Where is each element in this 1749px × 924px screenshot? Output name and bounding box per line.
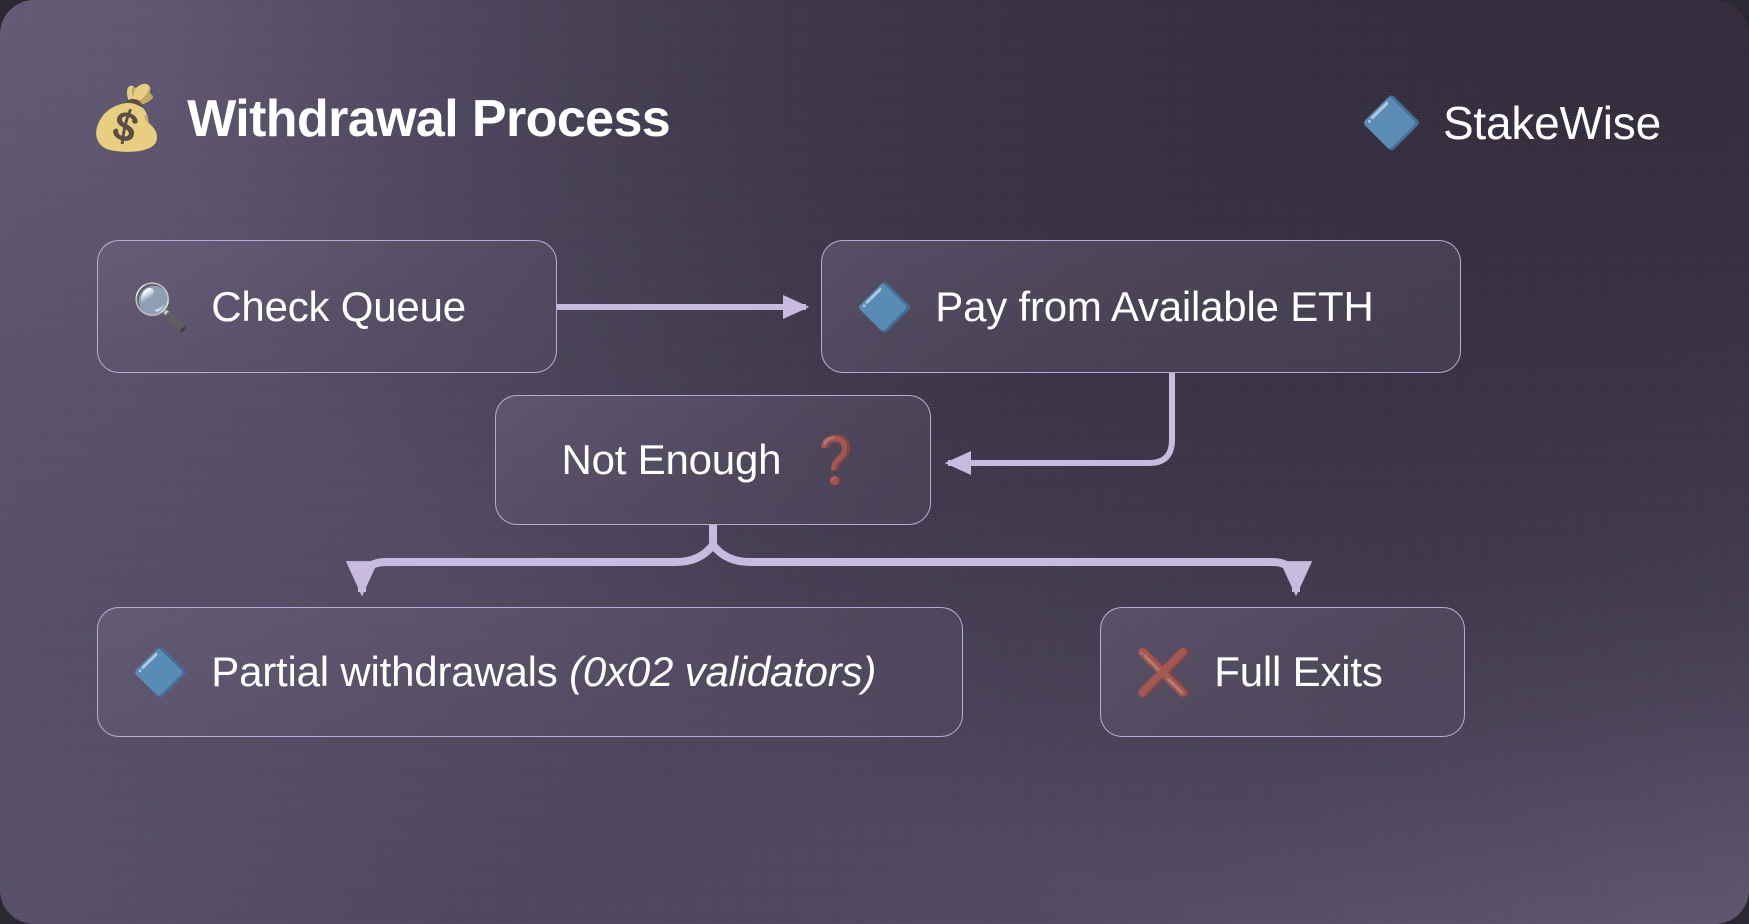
node-full-exits[interactable]: ❌ Full Exits <box>1100 607 1465 737</box>
cross-mark-icon: ❌ <box>1135 649 1192 695</box>
node-pay-from-available-eth[interactable]: 🔷 Pay from Available ETH <box>821 240 1461 373</box>
node-partial-withdrawals-note: (0x02 validators) <box>569 648 876 695</box>
ethereum-diamond-icon: 🔷 <box>856 284 913 330</box>
node-partial-withdrawals[interactable]: 🔷 Partial withdrawals (0x02 validators) <box>97 607 963 737</box>
edge-not-enough-to-partial <box>362 545 713 592</box>
node-not-enough-label: Not Enough <box>561 436 781 484</box>
edge-not-enough-to-full-exits <box>713 545 1296 592</box>
page-title-text: Withdrawal Process <box>187 89 670 149</box>
node-check-queue[interactable]: 🔍 Check Queue <box>97 240 557 373</box>
money-coin-icon: 💰 <box>88 88 165 150</box>
ethereum-diamond-icon: 🔷 <box>1361 98 1423 148</box>
node-partial-withdrawals-label: Partial withdrawals (0x02 validators) <box>211 648 876 696</box>
node-not-enough[interactable]: Not Enough ❓ <box>495 395 931 525</box>
node-full-exits-label: Full Exits <box>1214 648 1382 696</box>
diagram-canvas: 💰 Withdrawal Process 🔷 StakeWise 🔍 Check… <box>0 0 1749 924</box>
brand-logo: 🔷 StakeWise <box>1361 96 1661 150</box>
magnifying-glass-icon: 🔍 <box>132 284 189 330</box>
brand-name: StakeWise <box>1443 96 1661 150</box>
edge-pay-eth-to-not-enough <box>948 373 1172 463</box>
node-check-queue-label: Check Queue <box>211 283 466 331</box>
ethereum-diamond-icon: 🔷 <box>132 649 189 695</box>
node-partial-withdrawals-main: Partial withdrawals <box>211 648 557 695</box>
page-title: 💰 Withdrawal Process <box>88 88 670 150</box>
node-pay-from-available-eth-label: Pay from Available ETH <box>935 283 1373 331</box>
question-mark-icon: ❓ <box>807 437 864 483</box>
